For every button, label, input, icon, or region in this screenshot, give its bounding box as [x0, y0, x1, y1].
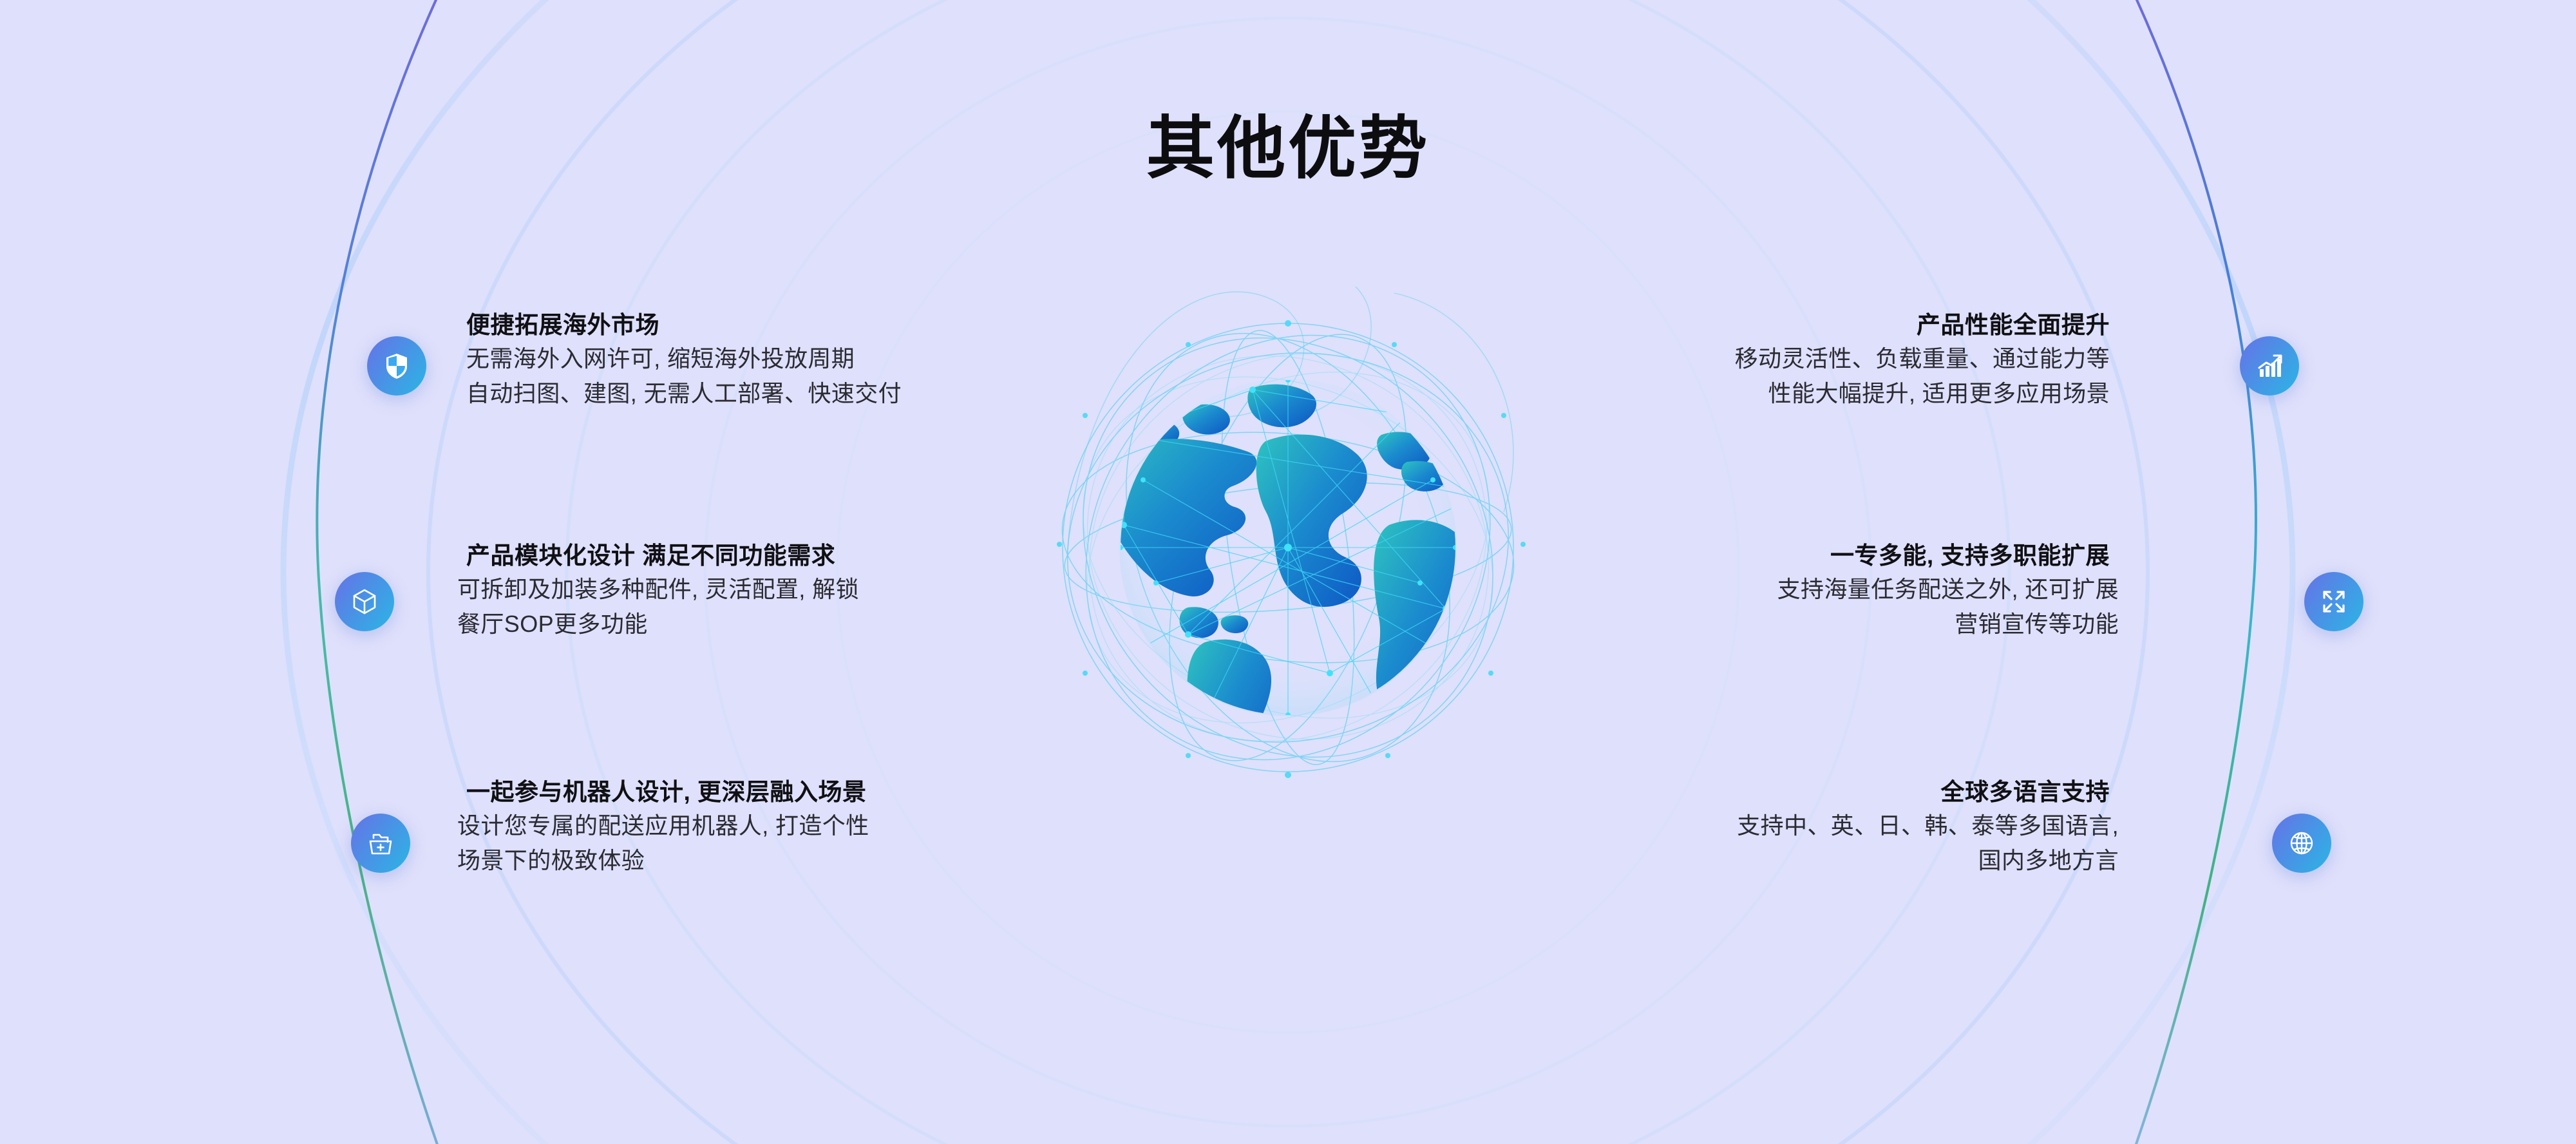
shield-icon-badge[interactable]	[367, 336, 426, 396]
feature-line: 设计您专属的配送应用机器人, 打造个性	[457, 808, 1114, 844]
feature-line: 性能大幅提升, 适用更多应用场景	[1462, 376, 2119, 412]
feature-line: 国内多地方言	[1462, 843, 2119, 879]
feature-title: 产品性能全面提升	[1462, 309, 2119, 341]
cube-icon-badge[interactable]	[335, 572, 394, 631]
feature-title: 一专多能, 支持多职能扩展	[1462, 540, 2119, 572]
growth-chart-icon	[2254, 350, 2285, 381]
feature-line: 营销宣传等功能	[1462, 607, 2119, 642]
growth-chart-icon-badge[interactable]	[2240, 336, 2299, 396]
feature-title: 一起参与机器人设计, 更深层融入场景	[457, 776, 1114, 808]
feature-line: 餐厅SOP更多功能	[457, 607, 1114, 642]
page-title: 其他优势	[0, 115, 2576, 183]
feature-line: 支持海量任务配送之外, 还可扩展	[1462, 572, 2119, 607]
feature-line: 移动灵活性、负载重量、通过能力等	[1462, 341, 2119, 377]
shield-icon	[381, 350, 412, 381]
expand-arrows-icon-badge[interactable]	[2304, 572, 2363, 631]
feature-line: 场景下的极致体验	[457, 843, 1114, 879]
feature-title: 产品模块化设计 满足不同功能需求	[457, 540, 1114, 572]
feature-title: 全球多语言支持	[1462, 776, 2119, 808]
globe-icon	[2286, 828, 2317, 859]
feature-line: 自动扫图、建图, 无需人工部署、快速交付	[457, 376, 1114, 412]
feature-title: 便捷拓展海外市场	[457, 309, 1114, 341]
folder-plus-icon	[365, 828, 396, 859]
globe-icon-badge[interactable]	[2272, 814, 2331, 873]
folder-plus-icon-badge[interactable]	[351, 814, 410, 873]
feature-line: 可拆卸及加装多种配件, 灵活配置, 解锁	[457, 572, 1114, 607]
expand-arrows-icon	[2318, 586, 2349, 617]
infographic-stage: 其他优势	[0, 0, 2576, 1144]
cube-icon	[349, 586, 380, 617]
feature-line: 支持中、英、日、韩、泰等多国语言,	[1462, 808, 2119, 844]
feature-line: 无需海外入网许可, 缩短海外投放周期	[457, 341, 1114, 377]
